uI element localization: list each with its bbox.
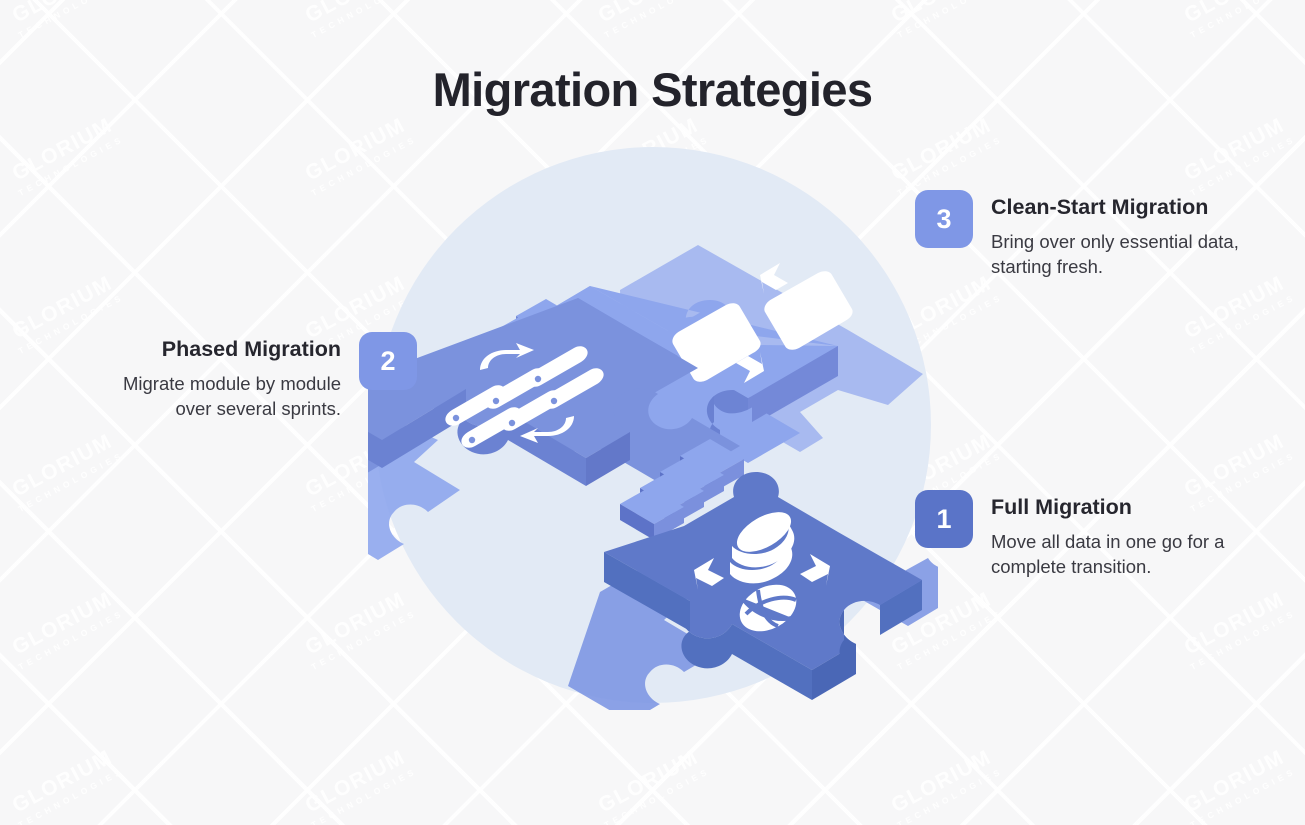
watermark-main: GLORIUM (1178, 587, 1292, 661)
callout-1-title: Full Migration (991, 492, 1275, 523)
watermark-sub: TECHNOLOGIES (601, 0, 713, 43)
watermark-sub: TECHNOLOGIES (15, 0, 127, 43)
watermark-main: GLORIUM (6, 587, 120, 661)
callout-1-description: Move all data in one go for a complete t… (991, 529, 1275, 580)
page-title: Migration Strategies (0, 62, 1305, 117)
watermark-sub: TECHNOLOGIES (1187, 0, 1299, 43)
watermark: GLORIUMTECHNOLOGIES (6, 429, 128, 517)
watermark-main: GLORIUM (1178, 113, 1292, 187)
watermark: GLORIUMTECHNOLOGIES (1178, 587, 1300, 675)
watermark-sub: TECHNOLOGIES (1187, 605, 1299, 675)
watermark-sub: TECHNOLOGIES (1187, 763, 1299, 825)
watermark-sub: TECHNOLOGIES (15, 131, 127, 201)
watermark-sub: TECHNOLOGIES (894, 763, 1006, 825)
watermark: GLORIUMTECHNOLOGIES (6, 0, 128, 43)
watermark-main: GLORIUM (6, 271, 120, 345)
callout-1-text: Full Migration Move all data in one go f… (991, 490, 1275, 580)
callout-full-migration[interactable]: 1 Full Migration Move all data in one go… (915, 490, 1275, 580)
callout-clean-start-migration[interactable]: 3 Clean-Start Migration Bring over only … (915, 190, 1275, 280)
watermark-sub: TECHNOLOGIES (308, 763, 420, 825)
isometric-puzzle-illustration (368, 140, 938, 710)
watermark: GLORIUMTECHNOLOGIES (885, 0, 1007, 43)
watermark-sub: TECHNOLOGIES (15, 605, 127, 675)
infographic-canvas: GLORIUMTECHNOLOGIES GLORIUMTECHNOLOGIES … (0, 0, 1305, 825)
watermark: GLORIUMTECHNOLOGIES (6, 745, 128, 825)
callout-1-badge: 1 (915, 490, 973, 548)
watermark: GLORIUMTECHNOLOGIES (1178, 113, 1300, 201)
watermark: GLORIUMTECHNOLOGIES (1178, 271, 1300, 359)
watermark-sub: TECHNOLOGIES (601, 763, 713, 825)
watermark: GLORIUMTECHNOLOGIES (592, 745, 714, 825)
watermark-sub: TECHNOLOGIES (308, 0, 420, 43)
callout-3-title: Clean-Start Migration (991, 192, 1275, 223)
watermark-main: GLORIUM (885, 0, 999, 29)
watermark-main: GLORIUM (6, 429, 120, 503)
watermark: GLORIUMTECHNOLOGIES (6, 113, 128, 201)
callout-2-badge: 2 (359, 332, 417, 390)
callout-phased-migration[interactable]: Phased Migration Migrate module by modul… (112, 332, 417, 422)
watermark: GLORIUMTECHNOLOGIES (299, 0, 421, 43)
watermark: GLORIUMTECHNOLOGIES (1178, 745, 1300, 825)
watermark-main: GLORIUM (6, 0, 120, 29)
watermark: GLORIUMTECHNOLOGIES (6, 587, 128, 675)
callout-3-description: Bring over only essential data, starting… (991, 229, 1275, 280)
watermark-sub: TECHNOLOGIES (1187, 289, 1299, 359)
watermark-main: GLORIUM (1178, 271, 1292, 345)
watermark-main: GLORIUM (299, 0, 413, 29)
watermark-main: GLORIUM (6, 745, 120, 819)
callout-3-text: Clean-Start Migration Bring over only es… (991, 190, 1275, 280)
watermark-sub: TECHNOLOGIES (15, 763, 127, 825)
watermark-main: GLORIUM (6, 113, 120, 187)
watermark-main: GLORIUM (1178, 0, 1292, 29)
watermark-sub: TECHNOLOGIES (894, 0, 1006, 43)
watermark: GLORIUMTECHNOLOGIES (6, 271, 128, 359)
watermark-main: GLORIUM (592, 745, 706, 819)
watermark: GLORIUMTECHNOLOGIES (885, 745, 1007, 825)
watermark-main: GLORIUM (885, 745, 999, 819)
watermark-sub: TECHNOLOGIES (15, 447, 127, 517)
watermark: GLORIUMTECHNOLOGIES (592, 0, 714, 43)
watermark-main: GLORIUM (299, 745, 413, 819)
watermark: GLORIUMTECHNOLOGIES (299, 745, 421, 825)
watermark-main: GLORIUM (1178, 745, 1292, 819)
callout-2-title: Phased Migration (112, 334, 341, 365)
watermark: GLORIUMTECHNOLOGIES (1178, 0, 1300, 43)
watermark-sub: TECHNOLOGIES (15, 289, 127, 359)
callout-2-description: Migrate module by module over several sp… (112, 371, 341, 422)
callout-2-text: Phased Migration Migrate module by modul… (112, 332, 341, 422)
watermark-main: GLORIUM (592, 0, 706, 29)
callout-3-badge: 3 (915, 190, 973, 248)
